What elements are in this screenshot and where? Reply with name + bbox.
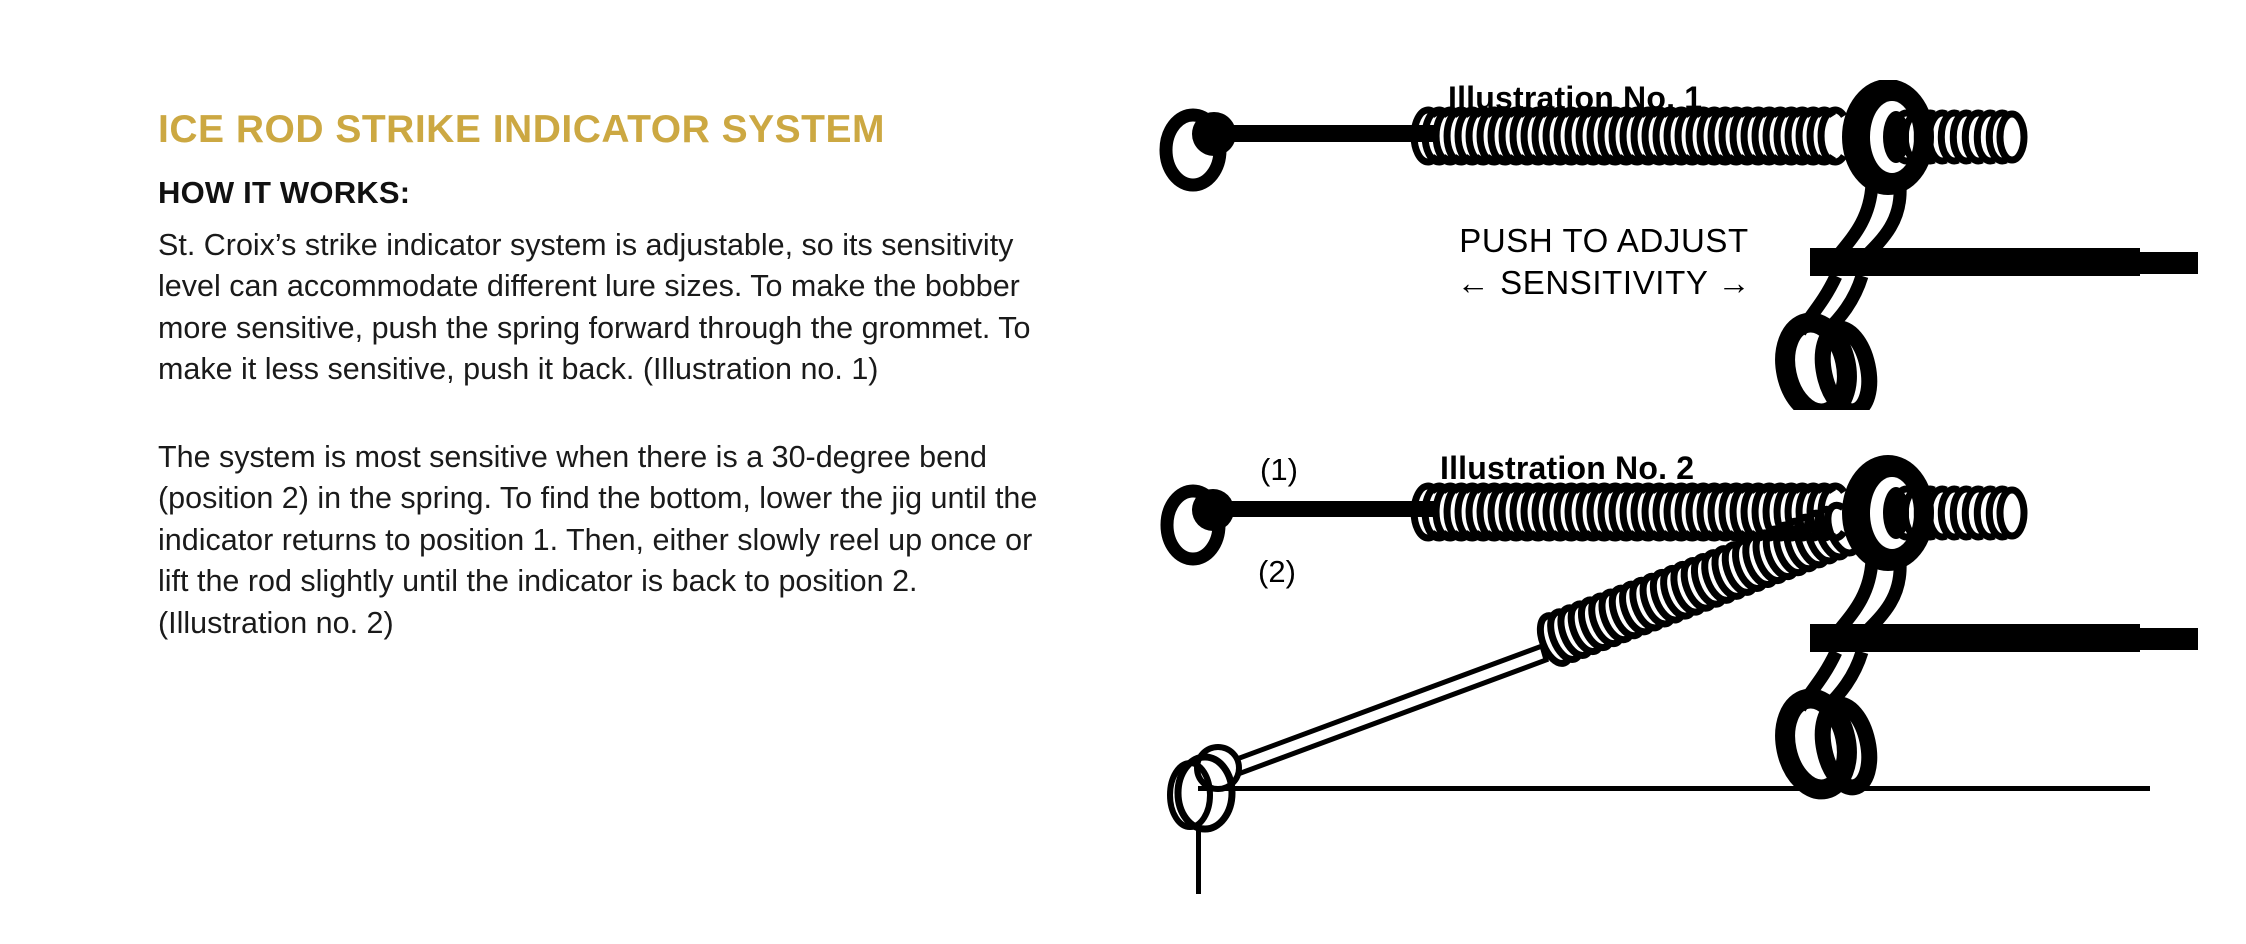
position-1-label: (1) — [1260, 452, 1298, 488]
rod-blank-2 — [1810, 624, 2140, 652]
position-2-label: (2) — [1258, 554, 1296, 590]
paragraph-spacer — [158, 391, 1068, 437]
position-1-spring-wire — [1213, 501, 1435, 517]
illustration-column: Illustration No. 1 PUSH TO ADJUST ← SENS… — [1110, 0, 2246, 944]
push-to-adjust-line1: PUSH TO ADJUST — [1459, 222, 1749, 259]
rod-blank-tip — [2116, 252, 2198, 274]
water-surface-line — [1198, 786, 2150, 791]
illustration-2: Illustration No. 2 (1) (2) — [1110, 450, 2246, 920]
article-text-column: ICE ROD STRIKE INDICATOR SYSTEM HOW IT W… — [158, 110, 1068, 644]
page-root: ICE ROD STRIKE INDICATOR SYSTEM HOW IT W… — [0, 0, 2246, 944]
arrow-left-icon: ← — [1457, 264, 1491, 301]
rod-blank-tip-2 — [2116, 628, 2198, 650]
illustration-2-graphic — [1110, 450, 2246, 920]
section-subheading: HOW IT WORKS: — [158, 175, 1068, 211]
body-paragraph-1: St. Croix’s strike indicator system is a… — [158, 225, 1058, 391]
fishing-line — [1196, 828, 1201, 894]
illustration-1: Illustration No. 1 PUSH TO ADJUST ← SENS… — [1110, 80, 2246, 410]
illustration-2-title: Illustration No. 2 — [1440, 450, 1694, 487]
arrow-right-icon: → — [1718, 264, 1752, 301]
position-2-spring-wire — [1218, 646, 1546, 780]
page-title: ICE ROD STRIKE INDICATOR SYSTEM — [158, 110, 1068, 151]
spring-wire-straight — [1214, 125, 1434, 142]
sensitivity-line: ← SENSITIVITY → — [1334, 262, 1874, 304]
sensitivity-label: SENSITIVITY — [1500, 264, 1708, 301]
spring-coil-horizontal — [1414, 110, 1844, 162]
body-paragraph-2: The system is most sensitive when there … — [158, 437, 1058, 645]
illustration-1-title: Illustration No. 1 — [1448, 80, 1702, 117]
push-to-adjust-label: PUSH TO ADJUST ← SENSITIVITY → — [1334, 220, 1874, 304]
